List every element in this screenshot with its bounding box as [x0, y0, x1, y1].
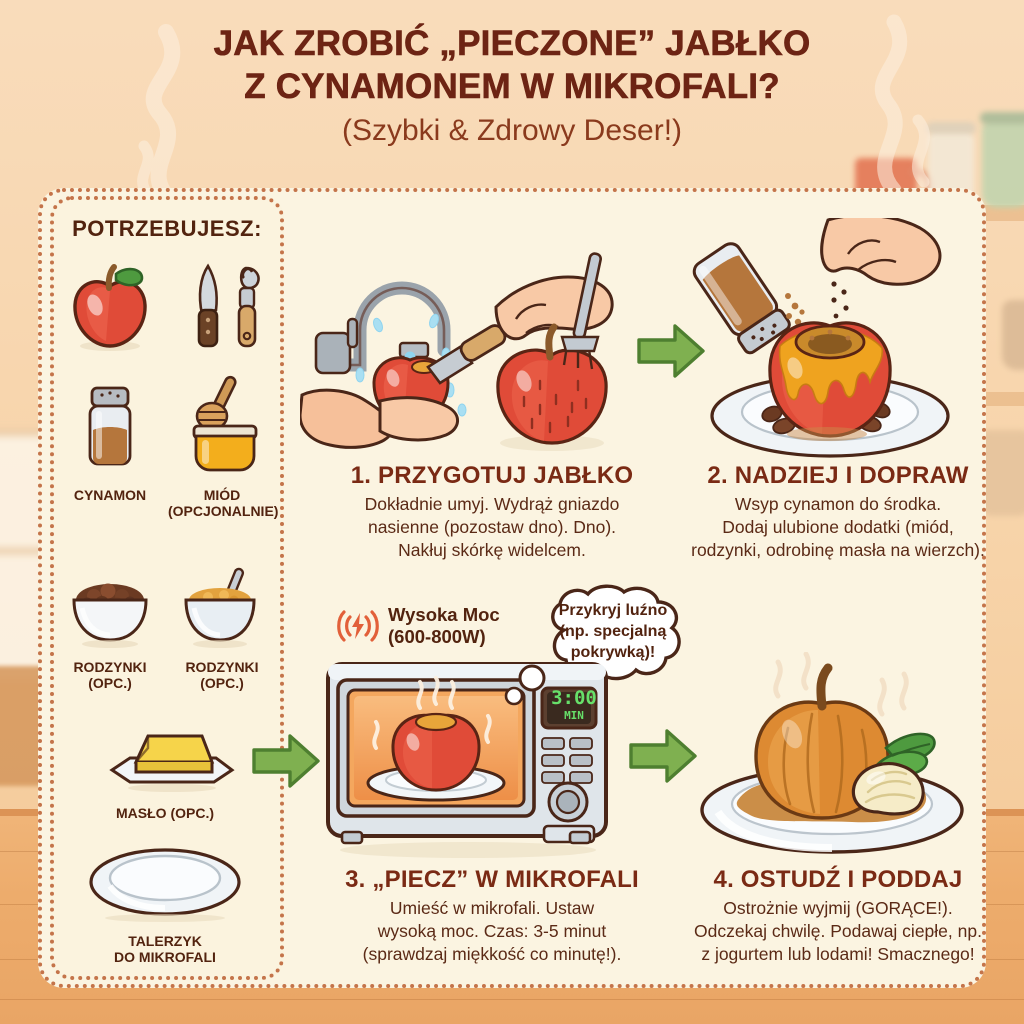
- ingredient-butter: MASŁO (OPC.): [90, 718, 240, 821]
- ingredient-label: MIÓD (OPCJONALNIE): [168, 487, 276, 519]
- ingredient-label: RODZYNKI (OPC.): [168, 659, 276, 691]
- subtitle: (Szybki & Zdrowy Deser!): [0, 114, 1024, 148]
- power-label-line2: (600-800W): [388, 626, 500, 648]
- step-2-heading: 2. NADZIEJ I DOPRAW: [660, 462, 1016, 490]
- knife-and-corer-icon: [172, 258, 272, 354]
- step-1-text: 1. PRZYGOTUJ JABŁKO Dokładnie umyj. Wydr…: [318, 462, 666, 562]
- step-4-text: 4. OSTUDŹ I PODDAJ Ostrożnie wyjmij (GOR…: [660, 866, 1016, 966]
- tip-line-2: (np. specjalną: [534, 621, 692, 642]
- microwave-time: 3:00: [549, 689, 599, 708]
- step-1-illustration: [300, 215, 640, 465]
- ingredient-plate: TALERZYK DO MIKROFALI: [80, 838, 250, 965]
- raisins-bowl-icon: [58, 572, 162, 650]
- nuts-bowl-icon: [168, 566, 276, 650]
- step-4-body: Ostrożnie wyjmij (GORĄCE!). Odczekaj chw…: [660, 897, 1016, 966]
- jar-icon: [1002, 300, 1024, 370]
- title-line-1: JAK ZROBIĆ „PIECZONE” JABŁKO: [0, 22, 1024, 65]
- step-3-heading: 3. „PIECZ” W MIKROFALI: [318, 866, 666, 894]
- honey-jar-icon: [168, 370, 276, 478]
- high-power-wave-icon: [336, 606, 380, 646]
- ingredient-honey: MIÓD (OPCJONALNIE): [168, 370, 276, 519]
- step-4-illustration: [672, 652, 992, 867]
- butter-stick-icon: [90, 718, 240, 796]
- tip-line-1: Przykryj luźno: [534, 600, 692, 621]
- ingredient-raisins: RODZYNKI (OPC.): [58, 572, 162, 691]
- step-2-body: Wsyp cynamon do środka. Dodaj ulubione d…: [660, 493, 1016, 562]
- plate-icon: [80, 838, 250, 924]
- apple-icon: [62, 258, 158, 354]
- ingredient-cinnamon: CYNAMON: [62, 378, 158, 503]
- step-3-illustration: [320, 650, 610, 865]
- power-label-line1: Wysoka Moc: [388, 604, 500, 626]
- step-1-body: Dokładnie umyj. Wydrąż gniazdo nasienne …: [318, 493, 666, 562]
- ingredient-label: CYNAMON: [62, 487, 158, 503]
- ingredient-nuts: RODZYNKI (OPC.): [168, 566, 276, 691]
- microwave-display: 3:00 MIN: [549, 689, 599, 721]
- cinnamon-shaker-icon: [62, 378, 158, 478]
- ingredient-apple: [62, 258, 158, 359]
- step-3-text: 3. „PIECZ” W MIKROFALI Umieść w mikrofal…: [318, 866, 666, 966]
- title-line-2: Z CYNAMONEM W MIKROFALI?: [0, 65, 1024, 108]
- step-4-heading: 4. OSTUDŹ I PODDAJ: [660, 866, 1016, 894]
- arrow-ingredients-to-step3: [250, 730, 322, 792]
- ingredient-label: TALERZYK DO MIKROFALI: [80, 933, 250, 965]
- ingredient-label: MASŁO (OPC.): [90, 805, 240, 821]
- ingredient-label: RODZYNKI (OPC.): [58, 659, 162, 691]
- power-badge: Wysoka Moc (600-800W): [336, 604, 500, 648]
- step-2-text: 2. NADZIEJ I DOPRAW Wsyp cynamon do środ…: [660, 462, 1016, 562]
- page-title: JAK ZROBIĆ „PIECZONE” JABŁKO Z CYNAMONEM…: [0, 22, 1024, 148]
- step-1-heading: 1. PRZYGOTUJ JABŁKO: [318, 462, 666, 490]
- step-2-illustration: [662, 218, 982, 466]
- step-3-body: Umieść w mikrofali. Ustaw wysoką moc. Cz…: [318, 897, 666, 966]
- ingredient-knife-corer: [172, 258, 272, 359]
- ingredients-heading: POTRZEBUJESZ:: [54, 216, 280, 242]
- microwave-time-unit: MIN: [549, 710, 599, 721]
